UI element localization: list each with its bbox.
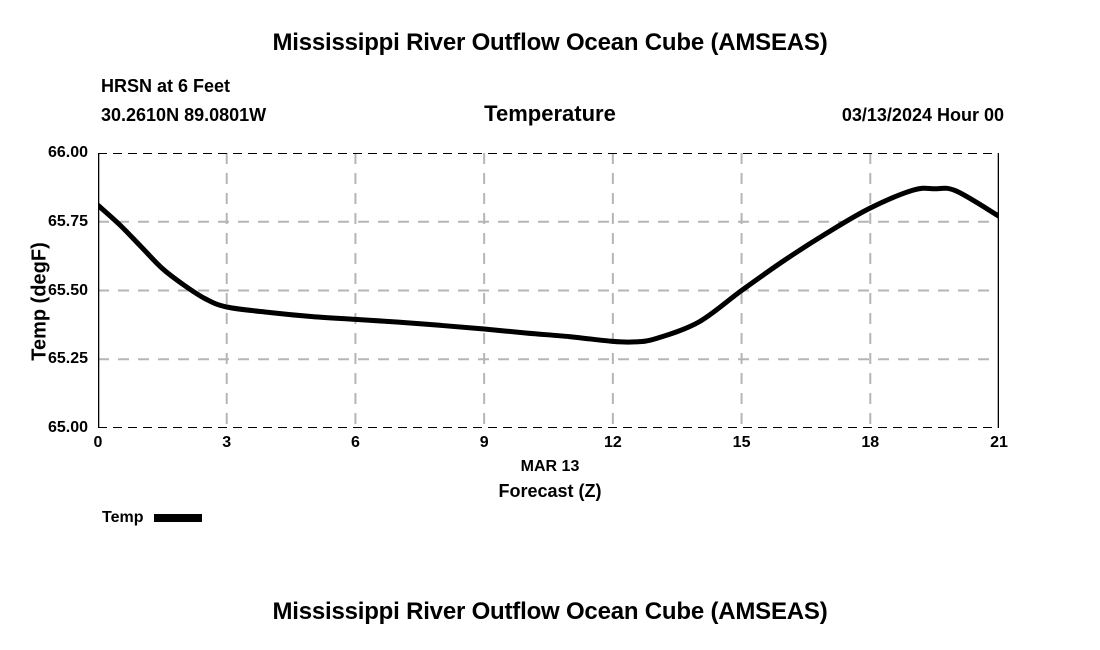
x-axis-tick-label: 0 — [94, 434, 103, 452]
x-axis-tick-label: 15 — [733, 434, 751, 452]
x-axis-tick-label: 18 — [861, 434, 879, 452]
x-axis-tick-label: 3 — [222, 434, 231, 452]
y-axis-title: Temp (degF) — [29, 162, 52, 442]
x-axis-tick-label: 6 — [351, 434, 360, 452]
chart-page: Mississippi River Outflow Ocean Cube (AM… — [0, 0, 1100, 650]
legend-line-swatch — [154, 514, 202, 522]
x-axis-date-label: MAR 13 — [0, 458, 1100, 476]
x-axis-tick-label: 21 — [990, 434, 1008, 452]
x-axis-tick-label: 12 — [604, 434, 622, 452]
page-title-bottom: Mississippi River Outflow Ocean Cube (AM… — [0, 598, 1100, 626]
x-axis-tick-labels: 036912151821 — [0, 0, 1100, 650]
x-axis-tick-label: 9 — [480, 434, 489, 452]
chart-legend: Temp — [102, 509, 202, 527]
x-axis-title: Forecast (Z) — [0, 481, 1100, 502]
legend-item-label: Temp — [102, 509, 143, 527]
